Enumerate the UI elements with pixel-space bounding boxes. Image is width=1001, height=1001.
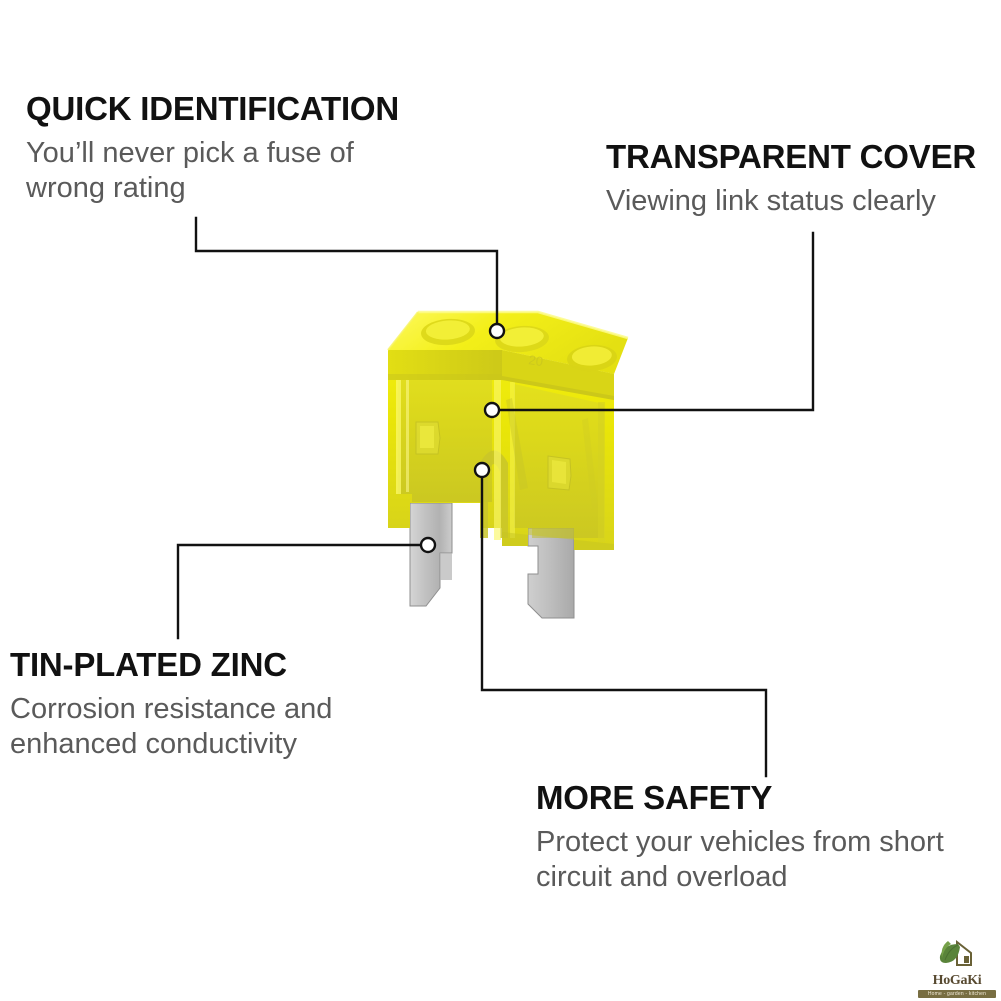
- callout-title-more-safety: MORE SAFETY: [536, 781, 944, 816]
- callout-title-tin-plated-zinc: TIN-PLATED ZINC: [10, 648, 332, 683]
- house-leaf-icon: [918, 938, 996, 968]
- watermark-tagline: Home - garden - kitchen: [918, 990, 996, 998]
- fuse-terminal-left: [410, 503, 452, 606]
- callout-desc-transparent-cover: Viewing link status clearly: [606, 184, 976, 219]
- callout-title-quick-identification: QUICK IDENTIFICATION: [26, 92, 399, 127]
- callout-quick-identification: QUICK IDENTIFICATION You’ll never pick a…: [26, 92, 399, 206]
- watermark-name: HoGaKi: [918, 974, 996, 988]
- callout-desc-more-safety: Protect your vehicles from short circuit…: [536, 825, 944, 896]
- callout-desc-tin-plated-zinc: Corrosion resistance and enhanced conduc…: [10, 692, 332, 763]
- watermark-logo: HoGaKi Home - garden - kitchen: [918, 938, 996, 996]
- callout-title-transparent-cover: TRANSPARENT COVER: [606, 140, 976, 175]
- product-infographic: 20 QUICK IDENTIFICATION: [0, 0, 1001, 1001]
- fuse-terminal-right: [528, 528, 574, 618]
- callout-desc-line: You’ll never pick a fuse of: [26, 136, 399, 171]
- callout-desc-line: Corrosion resistance and: [10, 692, 332, 727]
- blade-fuse-illustration: 20: [352, 288, 662, 628]
- callout-desc-line: Protect your vehicles from short: [536, 825, 944, 860]
- callout-desc-quick-identification: You’ll never pick a fuse of wrong rating: [26, 136, 399, 207]
- callout-desc-line: wrong rating: [26, 171, 399, 206]
- callout-desc-line: circuit and overload: [536, 860, 944, 895]
- callout-more-safety: MORE SAFETY Protect your vehicles from s…: [536, 781, 944, 895]
- callout-transparent-cover: TRANSPARENT COVER Viewing link status cl…: [606, 140, 976, 219]
- callout-desc-line: Viewing link status clearly: [606, 184, 976, 219]
- callout-tin-plated-zinc: TIN-PLATED ZINC Corrosion resistance and…: [10, 648, 332, 762]
- svg-text:20: 20: [528, 352, 545, 369]
- callout-desc-line: enhanced conductivity: [10, 727, 332, 762]
